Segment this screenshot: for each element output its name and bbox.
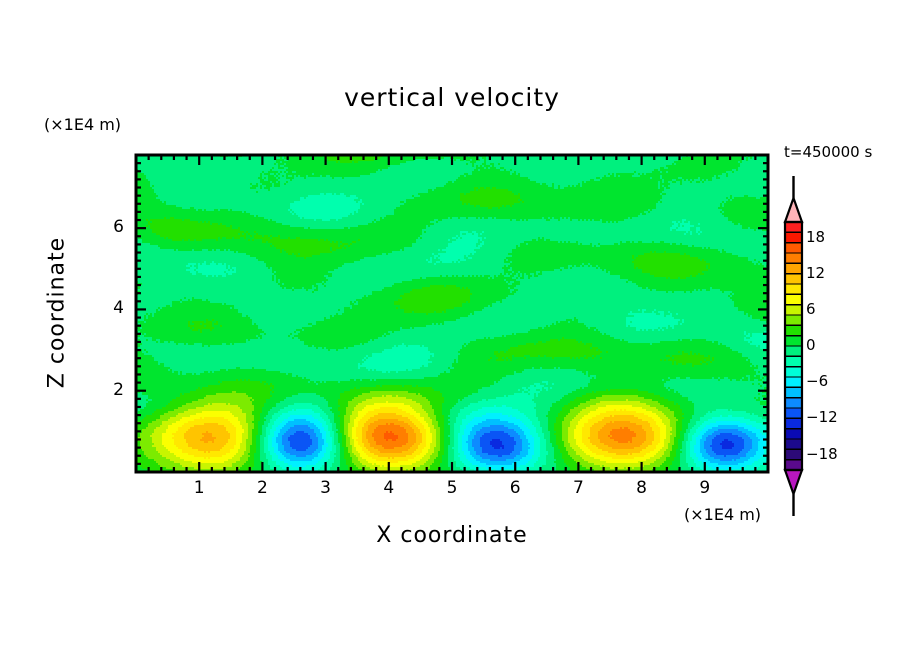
colorbar <box>785 176 802 516</box>
colorbar-tick-label: −18 <box>806 445 838 463</box>
x-tick-label: 8 <box>627 478 657 498</box>
x-tick-label: 2 <box>247 478 277 498</box>
colorbar-tick-label: 6 <box>806 300 816 318</box>
contour-figure <box>0 0 904 654</box>
colorbar-tick-label: 18 <box>806 228 825 246</box>
x-tick-label: 5 <box>437 478 467 498</box>
colorbar-tick-label: −12 <box>806 408 838 426</box>
x-tick-label: 9 <box>690 478 720 498</box>
y-tick-label: 4 <box>94 298 124 318</box>
y-tick-label: 6 <box>94 217 124 237</box>
colorbar-tick-label: −6 <box>806 372 828 390</box>
x-tick-label: 1 <box>184 478 214 498</box>
x-tick-label: 3 <box>311 478 341 498</box>
x-tick-label: 7 <box>563 478 593 498</box>
y-tick-label: 2 <box>94 380 124 400</box>
x-tick-label: 4 <box>374 478 404 498</box>
x-tick-label: 6 <box>500 478 530 498</box>
colorbar-tick-label: 12 <box>806 264 825 282</box>
colorbar-tick-label: 0 <box>806 336 816 354</box>
